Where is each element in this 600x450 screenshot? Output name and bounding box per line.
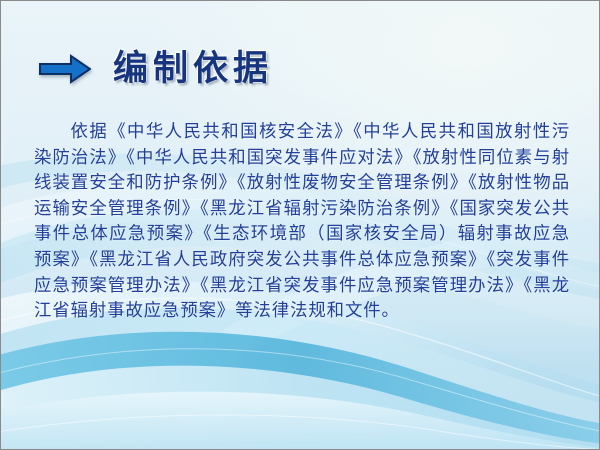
slide-title-row: 编制依据 [39, 51, 273, 86]
body-paragraph: 依据《中华人民共和国核安全法》《中华人民共和国放射性污染防治法》《中华人民共和国… [34, 119, 570, 324]
right-arrow-icon [39, 54, 91, 84]
slide-body-block: 依据《中华人民共和国核安全法》《中华人民共和国放射性污染防治法》《中华人民共和国… [34, 119, 570, 324]
presentation-slide: 编制依据 依据《中华人民共和国核安全法》《中华人民共和国放射性污染防治法》《中华… [0, 0, 600, 450]
page-title: 编制依据 [113, 51, 273, 86]
